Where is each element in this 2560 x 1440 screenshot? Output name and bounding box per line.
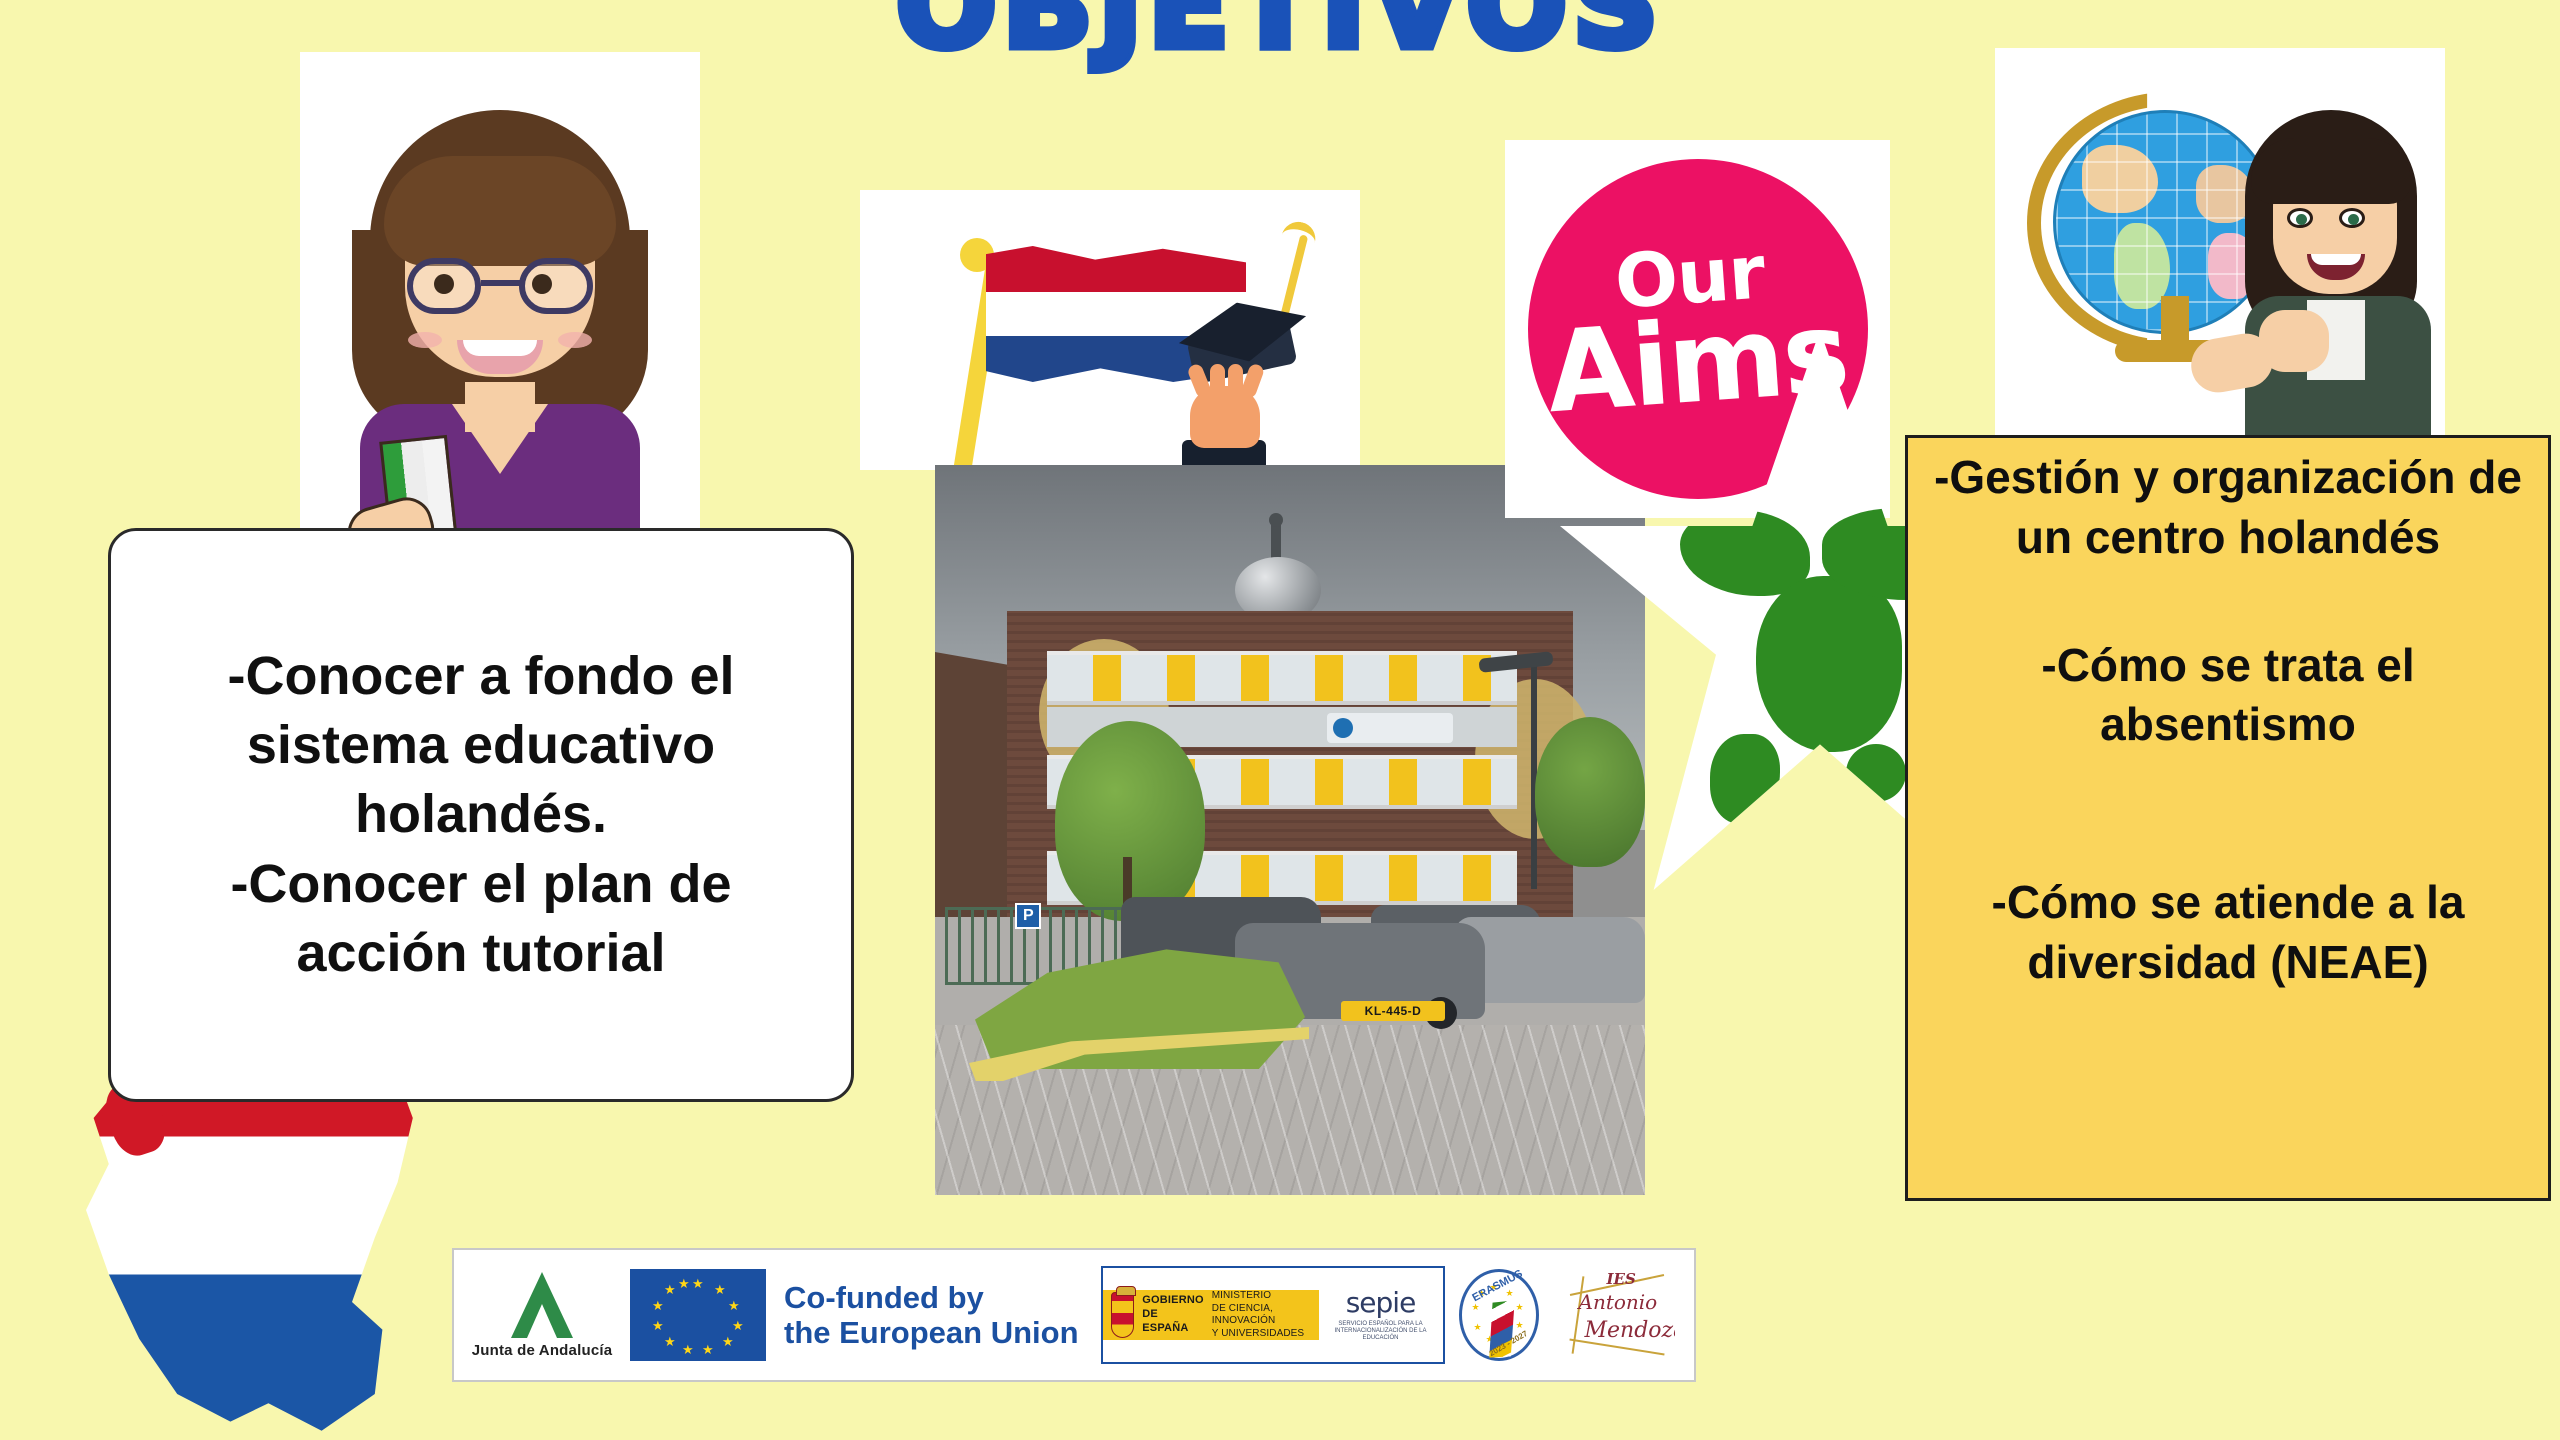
objectives-right-block-2: -Cómo se trata el absentismo: [1908, 636, 2548, 756]
sepie-block: sepie SERVICIO ESPAÑOL PARA LA INTERNACI…: [1319, 1286, 1443, 1345]
funding-logo-bar: Junta de Andalucía ★ ★ ★ ★ ★ ★ ★ ★ ★ ★ ★…: [452, 1248, 1696, 1382]
objectives-left-line-5: acción tutorial: [227, 919, 734, 988]
objectives-right-box: -Gestión y organización de un centro hol…: [1905, 435, 2551, 1201]
ies-antonio-mendoza-logo: IES Antonio Mendoza: [1553, 1250, 1685, 1380]
open-hand-icon: [1190, 386, 1260, 448]
bangs-shape: [384, 156, 616, 266]
building-wing: [935, 641, 1007, 942]
dutch-flag-cap-image: [860, 190, 1360, 470]
cheek-left: [408, 332, 442, 348]
objectives-left-line-3: holandés.: [227, 780, 734, 849]
gobierno-sepie-logo: GOBIERNO DE ESPAÑA MINISTERIO DE CIENCIA…: [1101, 1266, 1445, 1364]
ministry-line-2: DE CIENCIA, INNOVACIÓN: [1212, 1303, 1319, 1328]
landmass-2: [1756, 576, 1902, 752]
objectives-left-box: -Conocer a fondo el sistema educativo ho…: [108, 528, 854, 1102]
ies-line-3: Mendoza: [1585, 1318, 1675, 1343]
eye-left: [434, 274, 454, 294]
erasmus-oval-icon: ★ ★ ★ ★ ★ ★ ★ ★ ★ ERASMUS 2023 - 2027: [1459, 1269, 1539, 1361]
gobierno-line-1: GOBIERNO: [1142, 1294, 1204, 1308]
eye-left: [2287, 208, 2313, 228]
objectives-left-line-1: -Conocer a fondo el: [227, 642, 734, 711]
objectives-right-block-3: -Cómo se atiende a la diversidad (NEAE): [1908, 873, 2548, 993]
school-sign: [1327, 713, 1453, 743]
gobierno-block: GOBIERNO DE ESPAÑA MINISTERIO DE CIENCIA…: [1103, 1290, 1319, 1340]
ministry-line-3: Y UNIVERSIDADES: [1212, 1328, 1319, 1341]
eu-text-line-1: Co-funded by: [784, 1280, 1079, 1315]
parking-sign-icon: [1015, 903, 1041, 929]
ies-line-2: Antonio: [1579, 1290, 1658, 1314]
bangs-shape: [2251, 138, 2411, 204]
andalucia-arch-icon: [511, 1272, 573, 1338]
junta-label: Junta de Andalucía: [472, 1342, 613, 1359]
poster-canvas: OBJETIVOS: [0, 0, 2560, 1440]
gobierno-line-2: DE ESPAÑA: [1142, 1308, 1204, 1336]
ies-logo-box: IES Antonio Mendoza: [1563, 1266, 1675, 1364]
junta-de-andalucia-logo: Junta de Andalucía: [454, 1250, 630, 1380]
eu-cofunded-logo: ★ ★ ★ ★ ★ ★ ★ ★ ★ ★ ★ ★ Co-funded by the…: [630, 1250, 1079, 1380]
window-row-1: [1047, 651, 1517, 705]
objectives-left-text: -Conocer a fondo el sistema educativo ho…: [197, 642, 764, 988]
globe-bitmoji-image: [1995, 48, 2445, 438]
landmass-1: [1680, 510, 1810, 596]
bitmoji-teacher-image: [300, 52, 700, 552]
eu-text-line-2: the European Union: [784, 1315, 1079, 1350]
ministry-label: MINISTERIO DE CIENCIA, INNOVACIÓN Y UNIV…: [1212, 1290, 1319, 1340]
tree-2: [1535, 717, 1645, 867]
objectives-right-block-1: -Gestión y organización de un centro hol…: [1908, 448, 2548, 568]
eye-right: [2339, 208, 2365, 228]
objectives-left-line-4: -Conocer el plan de: [227, 850, 734, 919]
spain-coat-of-arms-icon: [1111, 1292, 1135, 1338]
erasmus-logo: ★ ★ ★ ★ ★ ★ ★ ★ ★ ERASMUS 2023 - 2027: [1445, 1250, 1553, 1380]
school-building-photo: KL-445-D: [935, 465, 1645, 1195]
objectives-left-line-2: sistema educativo: [227, 711, 734, 780]
eye-right: [532, 274, 552, 294]
eu-flag-icon: ★ ★ ★ ★ ★ ★ ★ ★ ★ ★ ★ ★: [630, 1269, 766, 1361]
gobierno-label: GOBIERNO DE ESPAÑA: [1142, 1294, 1204, 1335]
sepie-wordmark: sepie: [1346, 1286, 1416, 1319]
cheek-right: [558, 332, 592, 348]
landmass-6: [1846, 744, 1906, 802]
ies-line-1: IES: [1607, 1270, 1636, 1288]
sepie-subtitle: SERVICIO ESPAÑOL PARA LA INTERNACIONALIZ…: [1319, 1319, 1443, 1345]
landmass-5: [1710, 734, 1780, 824]
cap-tassel: [1280, 234, 1309, 319]
license-plate: KL-445-D: [1341, 1001, 1445, 1021]
ministry-line-1: MINISTERIO: [1212, 1290, 1319, 1303]
eu-cofunded-text: Co-funded by the European Union: [784, 1280, 1079, 1351]
